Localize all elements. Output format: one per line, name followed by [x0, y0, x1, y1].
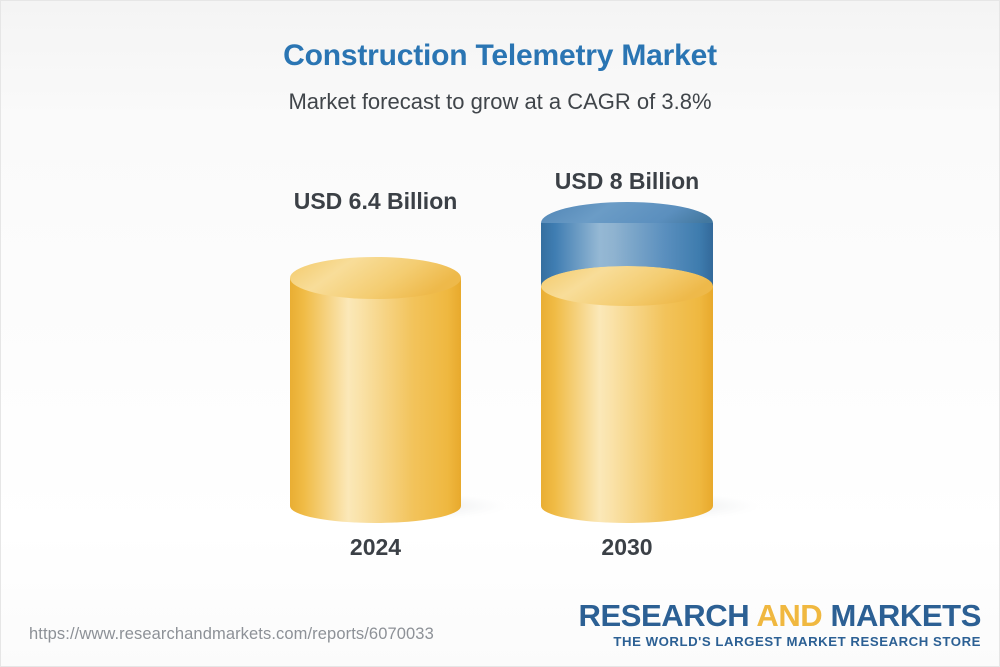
value-label-2030: USD 8 Billion: [555, 168, 699, 195]
infographic-card: Construction Telemetry Market Market for…: [0, 0, 1000, 667]
cylinder-base-body-2030: [541, 286, 713, 523]
value-label-2024: USD 6.4 Billion: [294, 188, 458, 215]
report-url[interactable]: https://www.researchandmarkets.com/repor…: [29, 625, 434, 644]
category-label-2030: 2030: [601, 534, 652, 561]
cylinder-base-top-2030: [541, 266, 713, 306]
logo-and-text: AND: [756, 598, 822, 633]
cylinder-2024: [290, 256, 461, 554]
logo-tagline: THE WORLD'S LARGEST MARKET RESEARCH STOR…: [578, 634, 981, 650]
research-and-markets-logo[interactable]: RESEARCH AND MARKETS THE WORLD'S LARGEST…: [578, 600, 981, 650]
bar-group-2024: USD 6.4 Billion 2024: [290, 256, 461, 509]
cylinder-2030: [541, 200, 713, 554]
cylinder-body-2024: [290, 278, 461, 523]
logo-markets-text: MARKETS: [831, 598, 981, 633]
logo-wordmark: RESEARCH AND MARKETS: [578, 600, 981, 632]
category-label-2024: 2024: [350, 534, 401, 561]
logo-research-text: RESEARCH: [578, 598, 749, 633]
cylinder-top-2024: [290, 257, 461, 299]
bar-group-2030: USD 8 Billion 2030: [541, 200, 713, 509]
chart-plot-area: USD 6.4 Billion 2024: [1, 1, 1000, 601]
